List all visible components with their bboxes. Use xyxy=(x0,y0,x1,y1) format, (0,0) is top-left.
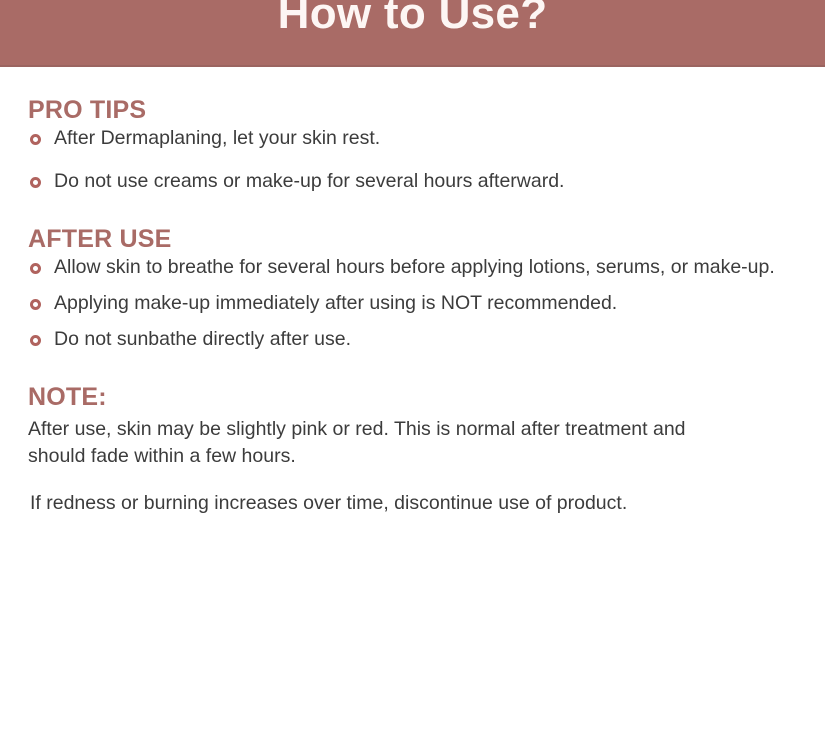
section-heading-pro-tips: PRO TIPS xyxy=(28,67,797,125)
bullet-ring-icon xyxy=(30,177,41,188)
after-use-list: Allow skin to breathe for several hours … xyxy=(28,254,797,353)
bullet-ring-icon xyxy=(30,263,41,274)
list-item: After Dermaplaning, let your skin rest. xyxy=(28,125,797,152)
bullet-ring-icon xyxy=(30,299,41,310)
bullet-ring-icon xyxy=(30,134,41,145)
note-paragraph: If redness or burning increases over tim… xyxy=(28,470,740,517)
pro-tips-list: After Dermaplaning, let your skin rest. … xyxy=(28,125,797,195)
list-item-label: Allow skin to breathe for several hours … xyxy=(54,256,775,278)
section-heading-note: NOTE: xyxy=(28,353,797,412)
list-item: Do not sunbathe directly after use. xyxy=(28,326,797,353)
bullet-ring-icon xyxy=(30,335,41,346)
list-item: Do not use creams or make-up for several… xyxy=(28,168,797,195)
list-item-label: Do not sunbathe directly after use. xyxy=(54,328,351,350)
list-item: Allow skin to breathe for several hours … xyxy=(28,254,797,281)
list-item: Applying make-up immediately after using… xyxy=(28,290,797,317)
section-heading-after-use: AFTER USE xyxy=(28,195,797,254)
page-header: How to Use? xyxy=(0,0,825,67)
content-area: PRO TIPS After Dermaplaning, let your sk… xyxy=(0,67,825,517)
page-title: How to Use? xyxy=(0,0,825,41)
list-item-label: After Dermaplaning, let your skin rest. xyxy=(54,127,380,149)
note-paragraph: After use, skin may be slightly pink or … xyxy=(28,412,738,470)
list-item-label: Do not use creams or make-up for several… xyxy=(54,170,564,192)
list-item-label: Applying make-up immediately after using… xyxy=(54,292,617,314)
